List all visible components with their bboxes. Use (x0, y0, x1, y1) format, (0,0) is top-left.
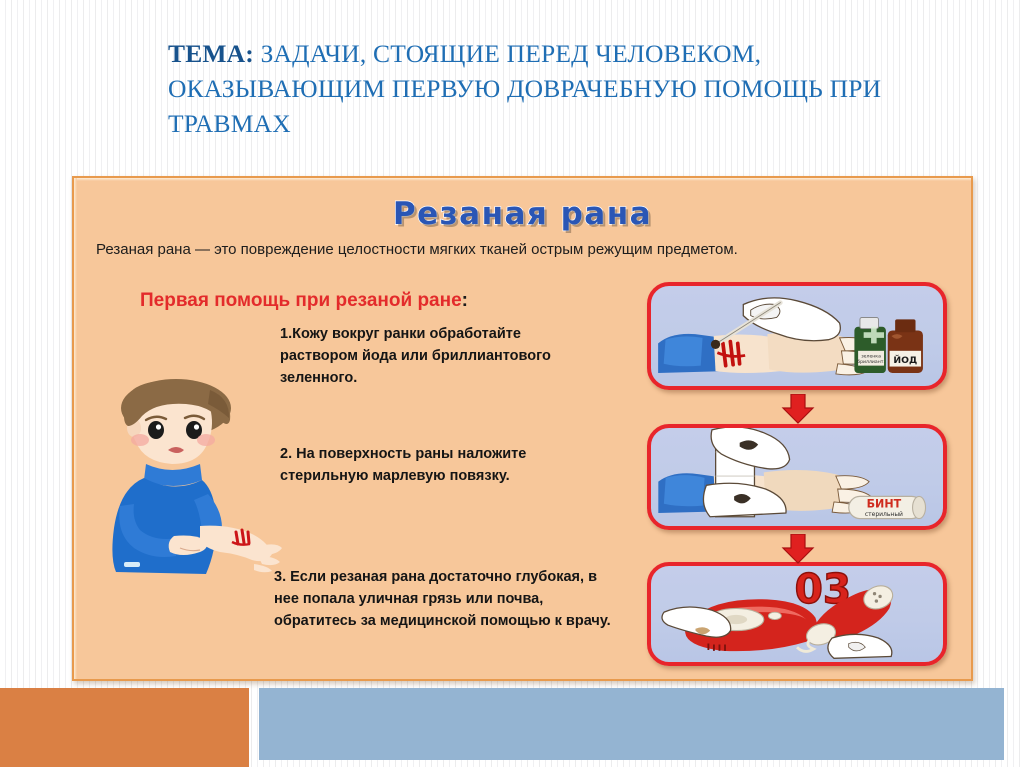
panel-1-artwork: зеленка бриллиант. ЙОД (651, 286, 943, 386)
bandage-label-sub: стерильный (865, 511, 903, 518)
footer-bar-blue (259, 688, 1004, 760)
bottle-green-label-line2: бриллиант. (857, 359, 885, 365)
step-1-text: 1.Кожу вокруг ранки обработайте растворо… (280, 323, 600, 389)
poster-frame: Резаная рана Резаная рана — это поврежде… (72, 176, 973, 681)
step-2-text: 2. На поверхность раны наложите стерильн… (280, 443, 590, 487)
poster-heading: Резаная рана (74, 196, 971, 232)
panel-call-doctor: 03 (647, 562, 947, 666)
panel-2-artwork: БИНТ стерильный (651, 428, 943, 526)
title-rest: ЗАДАЧИ, СТОЯЩИЕ ПЕРЕД ЧЕЛОВЕКОМ, ОКАЗЫВА… (168, 39, 881, 138)
poster-subheading: Первая помощь при резаной ране: (140, 290, 468, 312)
arrow-down-icon-2 (781, 534, 815, 564)
panel-antiseptic: зеленка бриллиант. ЙОД (647, 282, 947, 390)
step-3-text: 3. Если резаная рана достаточно глубокая… (274, 566, 619, 632)
arrow-down-icon-1 (781, 394, 815, 424)
bandage-label-main: БИНТ (867, 498, 902, 511)
footer-bar-orange (0, 688, 249, 767)
page-title: ТЕМА: ЗАДАЧИ, СТОЯЩИЕ ПЕРЕД ЧЕЛОВЕКОМ, О… (168, 36, 888, 141)
boy-with-cut-illustration (90, 376, 290, 586)
bandage-roll-label: БИНТ стерильный (849, 496, 926, 518)
bottle-green-label-line1: зеленка (861, 354, 881, 359)
title-keyword: ТЕМА: (168, 39, 254, 68)
panel-bandage: БИНТ стерильный (647, 424, 947, 530)
poster-bevel-left (74, 178, 77, 679)
poster-definition: Резаная рана — это повреждение целостнос… (96, 238, 936, 262)
bottle-iodine-label: ЙОД (893, 354, 917, 366)
panel-3-artwork: 03 (651, 566, 943, 662)
subheading-text: Первая помощь при резаной ране (140, 290, 462, 311)
poster-bevel-top (74, 178, 971, 181)
subheading-colon: : (462, 290, 468, 311)
